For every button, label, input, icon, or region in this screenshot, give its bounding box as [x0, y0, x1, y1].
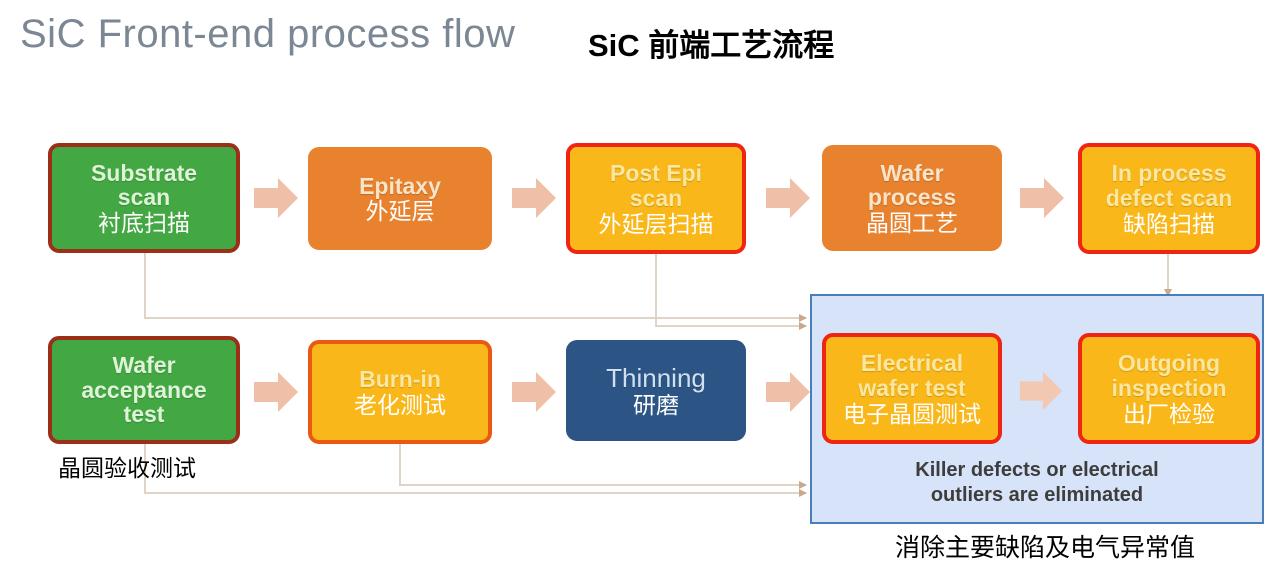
box-label-en: Burn-in	[359, 367, 441, 392]
box-label-zh: 外延层扫描	[599, 212, 714, 236]
process-box-burn-in[interactable]: Burn-in 老化测试	[308, 340, 492, 444]
box-label-zh: 缺陷扫描	[1123, 212, 1215, 236]
box-label-zh: 研磨	[633, 393, 679, 417]
process-box-electrical-wafer-test[interactable]: Electrical wafer test 电子晶圆测试	[822, 333, 1002, 444]
process-box-wafer-acceptance-test[interactable]: Wafer acceptance test	[48, 336, 240, 444]
flow-arrow-electrical-test-to-outgoing	[1016, 366, 1066, 416]
flow-arrow-wafer-acceptance-to-burn-in	[250, 366, 302, 418]
box-label-zh: 老化测试	[354, 393, 446, 417]
process-box-outgoing-inspection[interactable]: Outgoing inspection 出厂检验	[1078, 333, 1260, 444]
label-wafer-acceptance-test-zh: 晶圆验收测试	[58, 449, 196, 483]
box-label-zh: 出厂检验	[1123, 402, 1215, 426]
box-label-en: Substrate scan	[91, 161, 197, 211]
box-label-zh: 电子晶圆测试	[843, 402, 981, 426]
process-box-post-epi-scan[interactable]: Post Epi scan 外延层扫描	[566, 143, 746, 254]
flow-arrow-thinning-to-electrical-test	[762, 366, 814, 418]
flow-arrow-substrate-to-epitaxy	[250, 172, 302, 224]
panel-caption-chinese: 消除主要缺陷及电气异常值	[895, 528, 1195, 564]
box-label-en: Wafer process	[868, 161, 956, 211]
flow-arrow-post-epi-to-wafer-process	[762, 172, 814, 224]
box-label-zh: 外延层	[366, 199, 435, 223]
flow-arrow-epitaxy-to-post-epi	[508, 172, 560, 224]
box-label-en: Outgoing inspection	[1111, 351, 1226, 401]
process-box-wafer-process[interactable]: Wafer process 晶圆工艺	[822, 145, 1002, 251]
box-label-en: Electrical wafer test	[858, 351, 965, 401]
diagram-canvas: SiC Front-end process flow SiC 前端工艺流程 Ki…	[0, 0, 1282, 567]
flow-arrow-wafer-process-to-defect-scan	[1016, 172, 1068, 224]
process-box-epitaxy[interactable]: Epitaxy 外延层	[308, 147, 492, 250]
box-label-en: Epitaxy	[359, 174, 441, 199]
process-box-in-process-defect-scan[interactable]: In process defect scan 缺陷扫描	[1078, 143, 1260, 254]
panel-caption-english: Killer defects or electrical outliers ar…	[810, 458, 1264, 508]
box-label-en: Thinning	[606, 364, 706, 392]
process-box-substrate-scan[interactable]: Substrate scan 衬底扫描	[48, 143, 240, 253]
process-box-thinning[interactable]: Thinning 研磨	[566, 340, 746, 441]
box-label-en: Wafer acceptance test	[81, 353, 206, 427]
flow-arrow-burn-in-to-thinning	[508, 366, 560, 418]
box-label-en: In process defect scan	[1106, 161, 1233, 211]
box-label-zh: 晶圆工艺	[866, 211, 958, 235]
box-label-zh: 衬底扫描	[98, 211, 190, 235]
box-label-en: Post Epi scan	[610, 161, 702, 211]
